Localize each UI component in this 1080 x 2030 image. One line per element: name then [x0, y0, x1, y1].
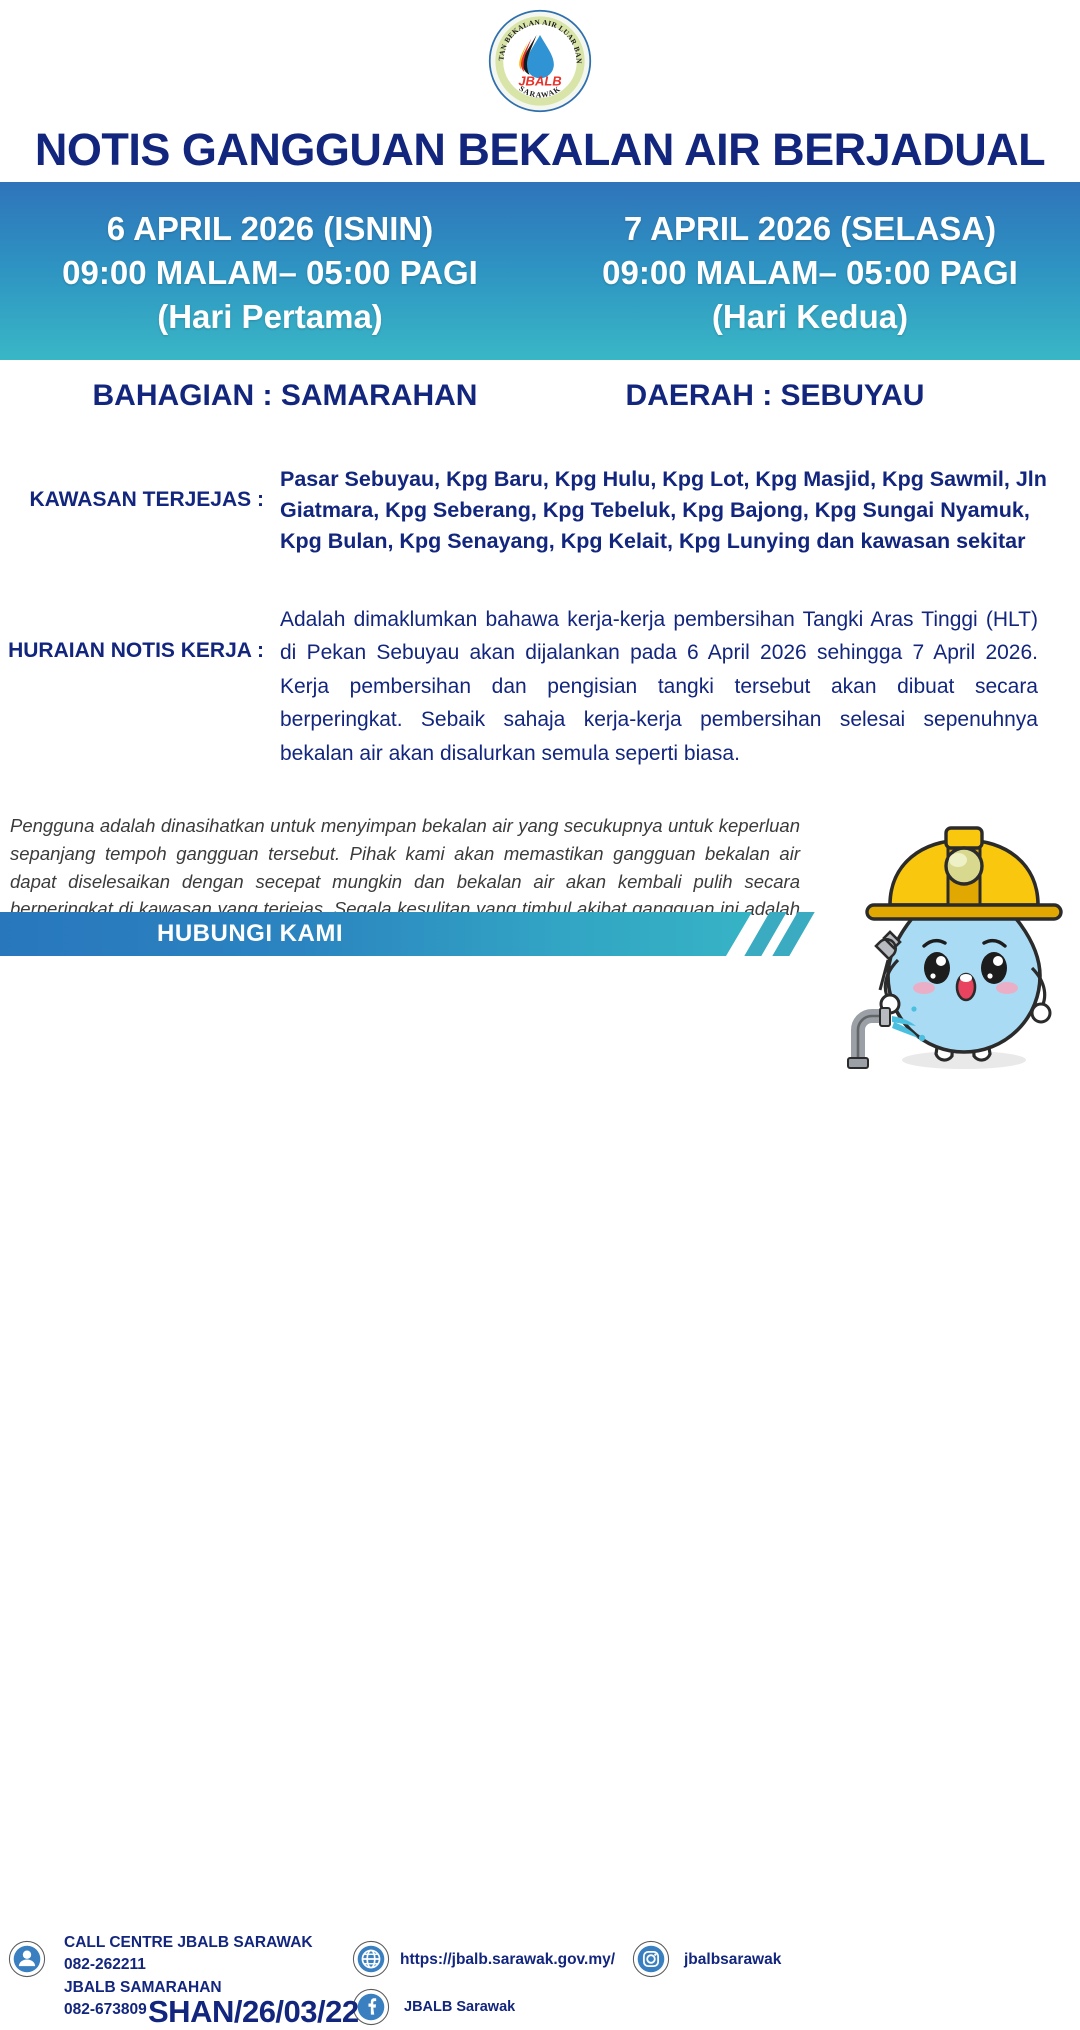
schedule-banner: 6 APRIL 2026 (ISNIN) 09:00 MALAM– 05:00 … — [0, 182, 1080, 360]
reference-code: SHAN/26/03/22 — [148, 1994, 359, 2030]
affected-areas-value: Pasar Sebuyau, Kpg Baru, Kpg Hulu, Kpg L… — [266, 464, 1066, 558]
schedule-day-two: 7 APRIL 2026 (SELASA) 09:00 MALAM– 05:00… — [540, 182, 1080, 360]
water-droplet-mascot — [836, 810, 1074, 1078]
instagram-icon[interactable] — [632, 1940, 670, 1978]
affected-areas-row: KAWASAN TERJEJAS : Pasar Sebuyau, Kpg Ba… — [0, 464, 1080, 558]
day-one-time: 09:00 MALAM– 05:00 PAGI — [62, 251, 478, 295]
day-two-label: (Hari Kedua) — [712, 295, 908, 339]
work-description-value: Adalah dimaklumkan bahawa kerja-kerja pe… — [266, 603, 1066, 771]
division-label: BAHAGIAN : SAMARAHAN — [0, 379, 540, 413]
district-label: DAERAH : SEBUYAU — [540, 379, 1080, 413]
facebook-handle[interactable]: JBALB Sarawak — [404, 1999, 515, 2015]
affected-areas-label: KAWASAN TERJEJAS : — [0, 464, 266, 558]
work-description-label: HURAIAN NOTIS KERJA : — [0, 603, 266, 771]
day-two-date: 7 APRIL 2026 (SELASA) — [624, 207, 996, 251]
schedule-day-one: 6 APRIL 2026 (ISNIN) 09:00 MALAM– 05:00 … — [0, 182, 540, 360]
work-description-row: HURAIAN NOTIS KERJA : Adalah dimaklumkan… — [0, 603, 1080, 771]
jbalb-logo: JBALB JABATAN BEKALAN AIR LUAR BANDAR SA… — [488, 9, 592, 113]
region-row: BAHAGIAN : SAMARAHAN DAERAH : SEBUYAU — [0, 360, 1080, 422]
globe-icon[interactable] — [352, 1940, 390, 1978]
contact-heading: HUBUNGI KAMI — [0, 912, 752, 956]
contact-details: CALL CENTRE JBALB SARAWAK 082-262211 JBA… — [0, 962, 840, 1080]
day-two-time: 09:00 MALAM– 05:00 PAGI — [602, 251, 1018, 295]
day-one-date: 6 APRIL 2026 (ISNIN) — [107, 207, 433, 251]
page-title: NOTIS GANGGUAN BEKALAN AIR BERJADUAL — [0, 116, 1080, 182]
website-link[interactable]: https://jbalb.sarawak.gov.my/ — [400, 1951, 615, 1969]
day-one-label: (Hari Pertama) — [157, 295, 383, 339]
person-icon — [8, 1940, 46, 1978]
logo-container: JBALB JABATAN BEKALAN AIR LUAR BANDAR SA… — [0, 0, 1080, 116]
instagram-handle[interactable]: jbalbsarawak — [684, 1951, 781, 1969]
